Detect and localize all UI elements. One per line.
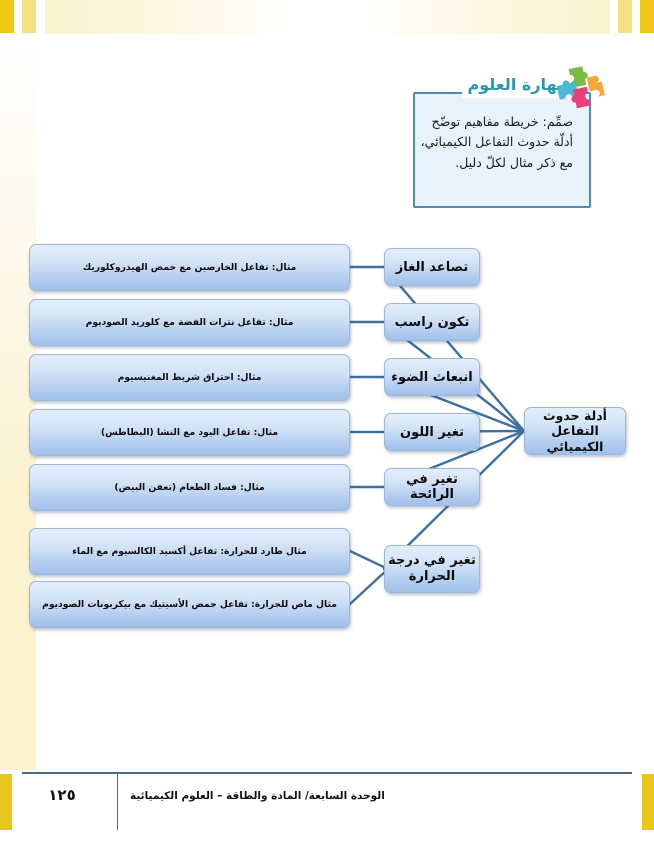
- example-node-endothermic-acetic-bicarbonate-label: مثال ماص للحرارة: تفاعل حمض الأسيتيك مع …: [42, 599, 337, 610]
- example-node-exothermic-calcium-oxide[interactable]: مثال طارد للحرارة: تفاعل أكسيد الكالسيوم…: [29, 528, 350, 575]
- evidence-node-precipitate[interactable]: تكون راسب: [384, 303, 480, 341]
- example-node-silver-nitrate-label: مثال: تفاعل نترات الفضة مع كلوريد الصودي…: [86, 317, 294, 328]
- footer-accent-tab-right: [642, 774, 654, 830]
- central-node-chemical-reaction-evidence[interactable]: أدلة حدوث التفاعل الكيميائي: [524, 407, 626, 455]
- footer-page-number: ١٢٥: [12, 786, 112, 804]
- connector-example6-to-temperature: [350, 551, 388, 569]
- example-node-iodine-starch-label: مثال: تفاعل اليود مع النشا (البطاطس): [101, 427, 278, 438]
- connector-gas-to-center: [384, 267, 524, 431]
- footer-horizontal-rule: [22, 772, 632, 774]
- footer-unit-title: الوحدة السابعة/ المادة والطاقة – العلوم …: [130, 790, 625, 802]
- connector-example7-to-temperature: [350, 569, 388, 604]
- evidence-node-gas[interactable]: تصاعد الغاز: [384, 248, 480, 286]
- example-node-magnesium-burning[interactable]: مثال: احتراق شريط المغنيسيوم: [29, 354, 350, 401]
- evidence-node-light-label: انبعاث الضوء: [391, 370, 472, 385]
- example-node-exothermic-calcium-oxide-label: مثال طارد للحرارة: تفاعل أكسيد الكالسيوم…: [72, 546, 307, 557]
- evidence-node-color[interactable]: تغير اللون: [384, 413, 480, 451]
- example-node-food-spoilage[interactable]: مثال: فساد الطعام (تعفن البيض): [29, 464, 350, 511]
- evidence-node-temperature-label-line1: تغير في درجة: [388, 553, 476, 569]
- footer-accent-tab-left: [0, 774, 12, 830]
- evidence-node-temperature-label-line2: الحرارة: [388, 569, 476, 585]
- example-node-endothermic-acetic-bicarbonate[interactable]: مثال ماص للحرارة: تفاعل حمض الأسيتيك مع …: [29, 581, 350, 628]
- example-node-iodine-starch[interactable]: مثال: تفاعل اليود مع النشا (البطاطس): [29, 409, 350, 456]
- evidence-node-odor[interactable]: تغير في الرائحة: [384, 468, 480, 506]
- evidence-node-light[interactable]: انبعاث الضوء: [384, 358, 480, 396]
- evidence-node-color-label: تغير اللون: [400, 425, 464, 440]
- example-node-magnesium-burning-label: مثال: احتراق شريط المغنيسيوم: [118, 372, 262, 383]
- central-node-label-line1: أدلة حدوث: [525, 408, 625, 424]
- example-node-zinc-hydrochloric-label: مثال: تفاعل الخارصين مع حمض الهيدروكلوري…: [83, 262, 297, 273]
- example-node-zinc-hydrochloric[interactable]: مثال: تفاعل الخارصين مع حمض الهيدروكلوري…: [29, 244, 350, 291]
- concept-map-diagram: تصاعد الغاز تكون راسب انبعاث الضوء تغير …: [0, 0, 654, 841]
- evidence-node-precipitate-label: تكون راسب: [395, 315, 470, 330]
- central-node-label-line2: التفاعل الكيميائي: [525, 423, 625, 454]
- evidence-node-temperature[interactable]: تغير في درجة الحرارة: [384, 545, 480, 593]
- evidence-node-odor-label: تغير في الرائحة: [385, 472, 479, 502]
- footer-vertical-divider: [117, 774, 118, 830]
- example-node-silver-nitrate[interactable]: مثال: تفاعل نترات الفضة مع كلوريد الصودي…: [29, 299, 350, 346]
- example-node-food-spoilage-label: مثال: فساد الطعام (تعفن البيض): [114, 482, 264, 493]
- evidence-node-gas-label: تصاعد الغاز: [396, 260, 469, 275]
